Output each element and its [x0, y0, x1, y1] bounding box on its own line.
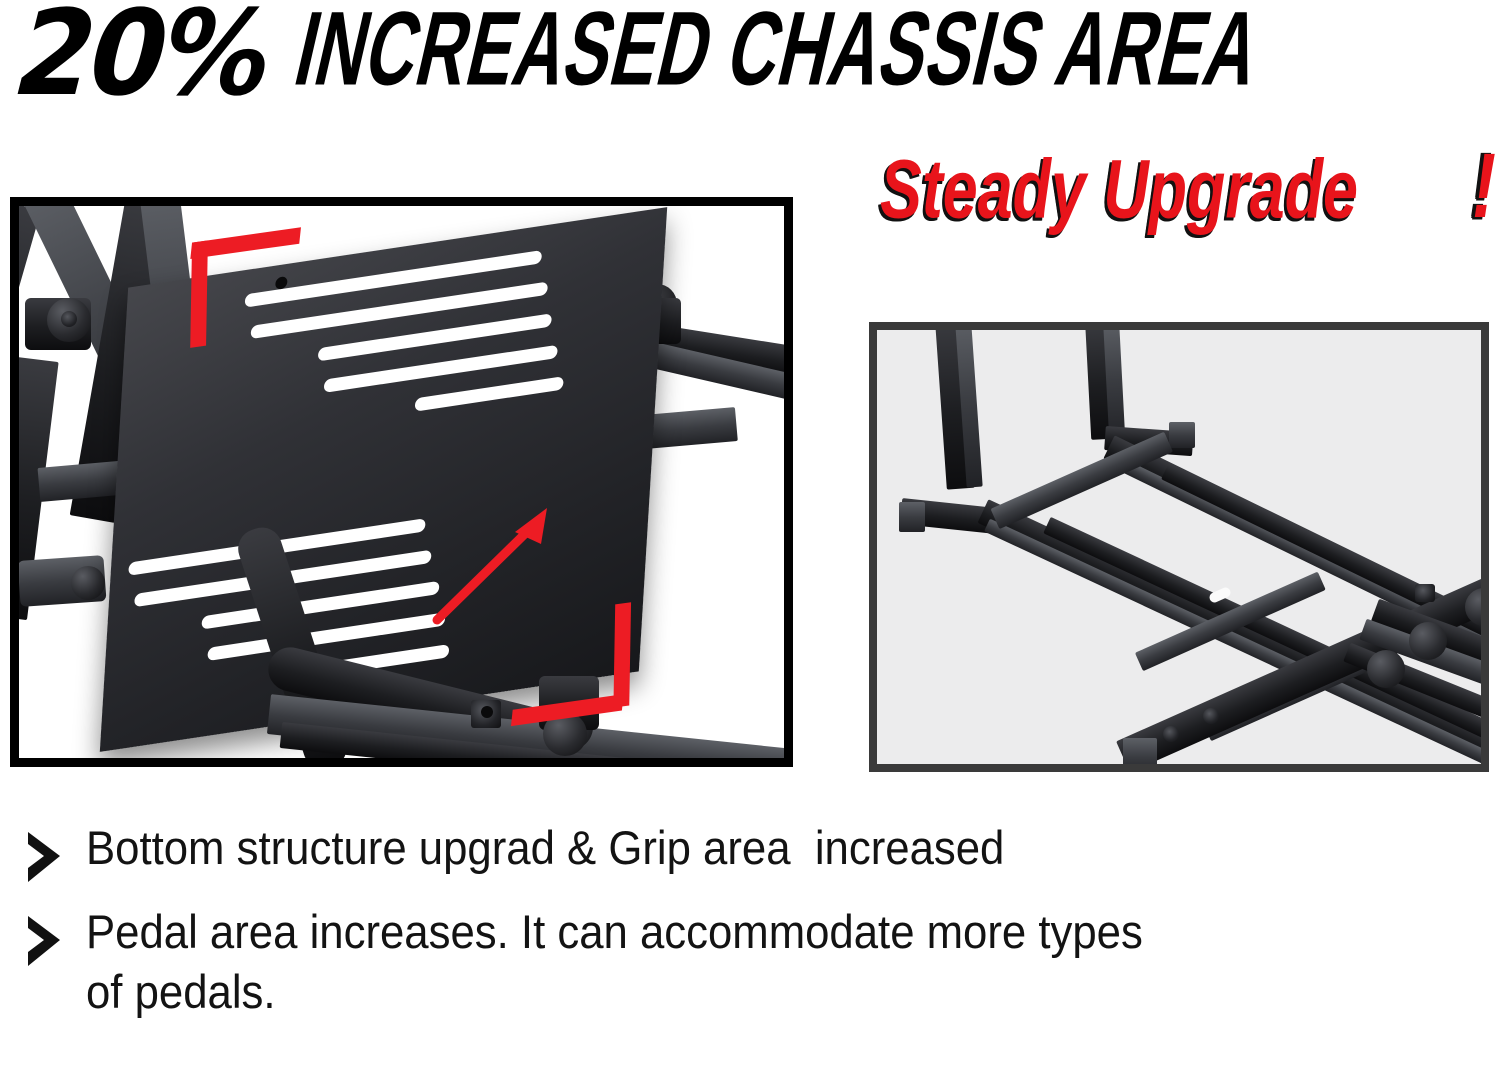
pedal-adjustment-knob-2	[1409, 622, 1447, 660]
base-rail-bolt-center	[481, 706, 493, 718]
bullet-text: Bottom structure upgrad & Grip area incr…	[86, 818, 1004, 878]
base-crossbar-cap-left	[899, 502, 925, 532]
tagline-exclamation: !	[1472, 140, 1496, 232]
chevron-right-icon	[24, 830, 64, 884]
pedal-mount-bolt	[1415, 584, 1435, 602]
headline-text: INCREASED CHASSIS AREA	[284, 0, 1270, 114]
red-arrow-up	[419, 498, 579, 628]
chassis-base-scene	[877, 330, 1481, 764]
pedal-plate-scene	[19, 206, 784, 758]
product-photo-chassis-base	[869, 322, 1489, 772]
base-foot-bolt-2	[1203, 708, 1219, 724]
list-item: Bottom structure upgrad & Grip area incr…	[24, 818, 1484, 884]
plate-slot	[415, 376, 564, 411]
tagline-text: Steady Upgrade	[880, 148, 1358, 231]
chevron-right-icon	[24, 914, 64, 968]
base-crossbar-cap-top	[1169, 422, 1195, 448]
headline-banner: 20% INCREASED CHASSIS AREA	[0, 0, 1500, 114]
knob-bolt-left	[61, 311, 77, 327]
tagline: Steady Upgrade !	[880, 152, 1498, 242]
stand-foot-cap-left	[71, 566, 105, 600]
product-photo-pedal-plate	[10, 197, 793, 767]
base-foot-bolt-1	[1163, 726, 1179, 742]
red-corner-bracket-top-left	[190, 226, 324, 350]
headline-percent: 20%	[4, 0, 283, 114]
base-foot-cap	[1123, 738, 1157, 764]
feature-bullet-list: Bottom structure upgrad & Grip area incr…	[24, 818, 1484, 1040]
pedal-adjustment-knob-3	[1367, 650, 1405, 688]
bullet-text: Pedal area increases. It can accommodate…	[86, 902, 1143, 1022]
list-item: Pedal area increases. It can accommodate…	[24, 902, 1484, 1022]
